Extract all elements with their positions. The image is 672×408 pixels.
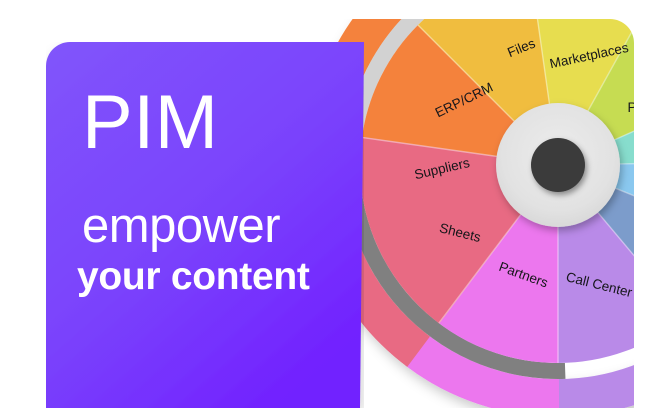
wheel-hub-core [531,138,585,192]
promo-banner: FilesMarketplacesERP/CRMPSuppliersSheets… [0,0,672,408]
promo-card-background [46,42,364,408]
wheel-rim-segment [661,0,672,79]
promo-card: PIM empower your content [46,42,364,408]
wheel-rim-segment [379,0,529,14]
promo-card-shape [46,42,364,408]
wheel-segment-label: P [627,100,636,115]
